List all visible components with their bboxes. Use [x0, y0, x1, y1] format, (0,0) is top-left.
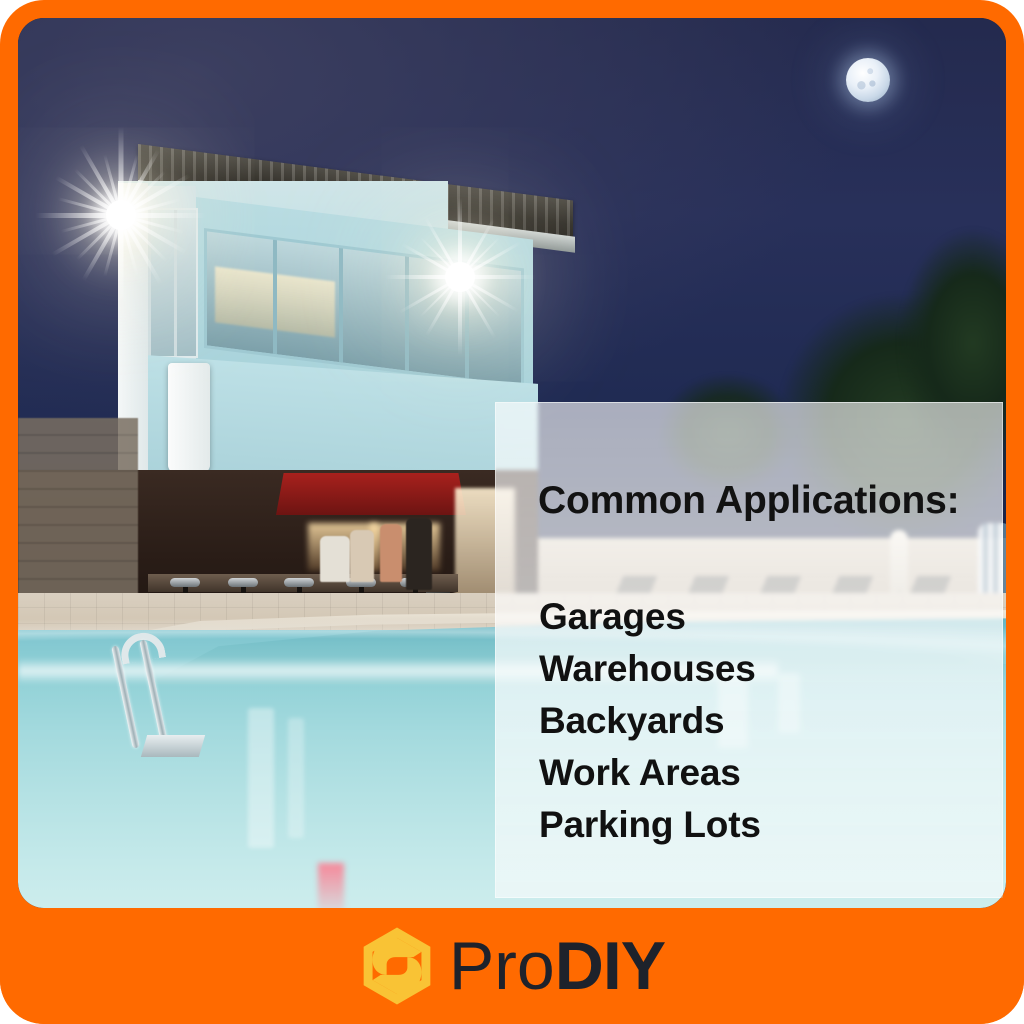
list-item: Warehouses: [539, 643, 761, 695]
person-seated: [350, 530, 374, 582]
ladder-anchor-plate: [141, 735, 205, 757]
water-reflection-warm: [318, 863, 344, 908]
hex-swirl-icon: [359, 926, 435, 1006]
list-item: Garages: [539, 591, 761, 643]
person-standing: [406, 518, 432, 590]
person-standing: [380, 524, 402, 582]
brand-wordmark: ProDIY: [449, 932, 665, 1000]
list-item: Work Areas: [539, 747, 761, 799]
water-reflection: [288, 718, 304, 838]
bar-awning: [276, 473, 466, 515]
moon-icon: [846, 58, 890, 102]
product-card: Common Applications: Garages Warehouses …: [0, 0, 1024, 1024]
brand-name-diy: DIY: [555, 928, 665, 1004]
brand-name-pro: Pro: [449, 928, 555, 1004]
hero-photo: Common Applications: Garages Warehouses …: [18, 18, 1006, 908]
list-item: Backyards: [539, 695, 761, 747]
list-item: Parking Lots: [539, 799, 761, 851]
brand-bar: ProDIY: [0, 908, 1024, 1024]
ac-unit: [168, 363, 210, 473]
applications-overlay-panel: Common Applications: Garages Warehouses …: [495, 402, 1003, 898]
person-seated: [320, 536, 350, 582]
applications-heading: Common Applications:: [538, 479, 959, 523]
water-reflection: [248, 708, 274, 848]
pool-ladder: [116, 623, 212, 743]
applications-list: Garages Warehouses Backyards Work Areas …: [539, 591, 761, 851]
